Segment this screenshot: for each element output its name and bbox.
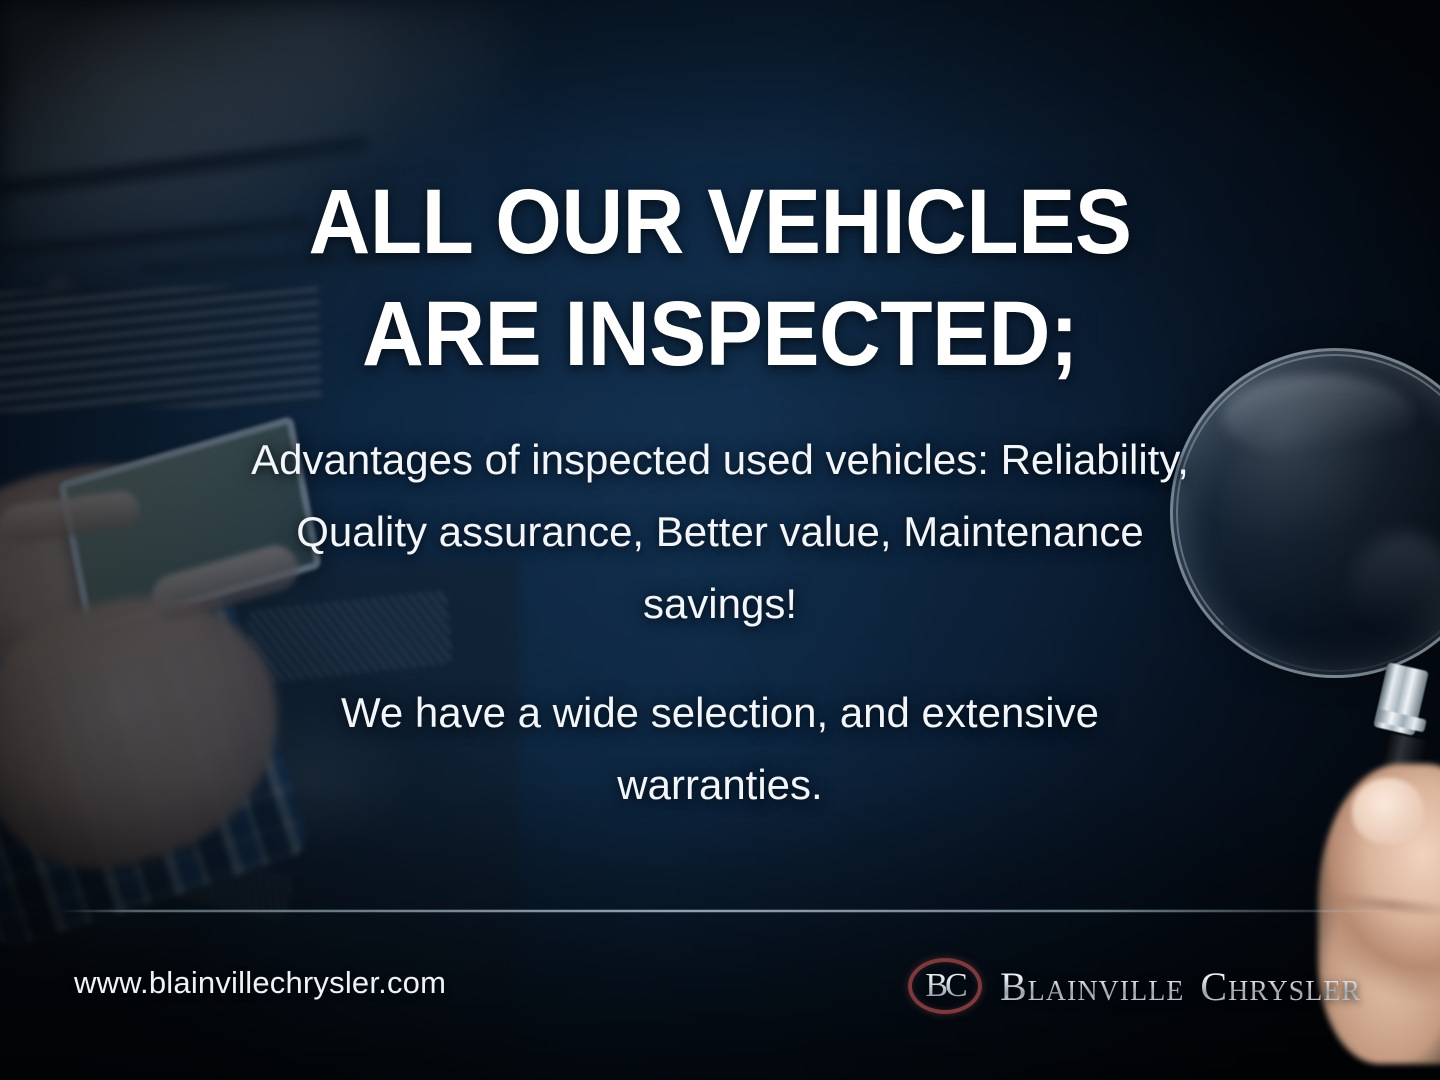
thumbnail bbox=[1352, 778, 1424, 844]
headline-line-2: ARE INSPECTED; bbox=[50, 278, 1389, 390]
brand-logo[interactable]: BC BlainvilleChrysler bbox=[908, 958, 1361, 1014]
logo-word-chrysler: Chrysler bbox=[1200, 964, 1361, 1009]
page-title: ALL OUR VEHICLES ARE INSPECTED; bbox=[50, 166, 1389, 390]
promo-slide: ALL OUR VEHICLES ARE INSPECTED; Advantag… bbox=[0, 0, 1440, 1080]
logo-wordmark: BlainvilleChrysler bbox=[1000, 963, 1361, 1010]
headline-line-1: ALL OUR VEHICLES bbox=[50, 166, 1389, 278]
magnifier-lens bbox=[1170, 348, 1440, 678]
body-paragraph-2: We have a wide selection, and extensive … bbox=[240, 677, 1200, 821]
logo-monogram-text: BC bbox=[908, 958, 982, 1014]
magnifying-glass-icon bbox=[1170, 348, 1440, 678]
divider bbox=[58, 910, 1394, 912]
body-paragraph-1: Advantages of inspected used vehicles: R… bbox=[240, 424, 1200, 641]
website-url[interactable]: www.blainvillechrysler.com bbox=[74, 965, 446, 1001]
body-copy: Advantages of inspected used vehicles: R… bbox=[240, 424, 1200, 821]
logo-monogram-badge: BC bbox=[908, 958, 982, 1014]
lens-glint-secondary bbox=[1348, 533, 1440, 665]
magnifier-rim bbox=[1176, 354, 1440, 672]
logo-word-blainville: Blainville bbox=[1000, 964, 1184, 1009]
